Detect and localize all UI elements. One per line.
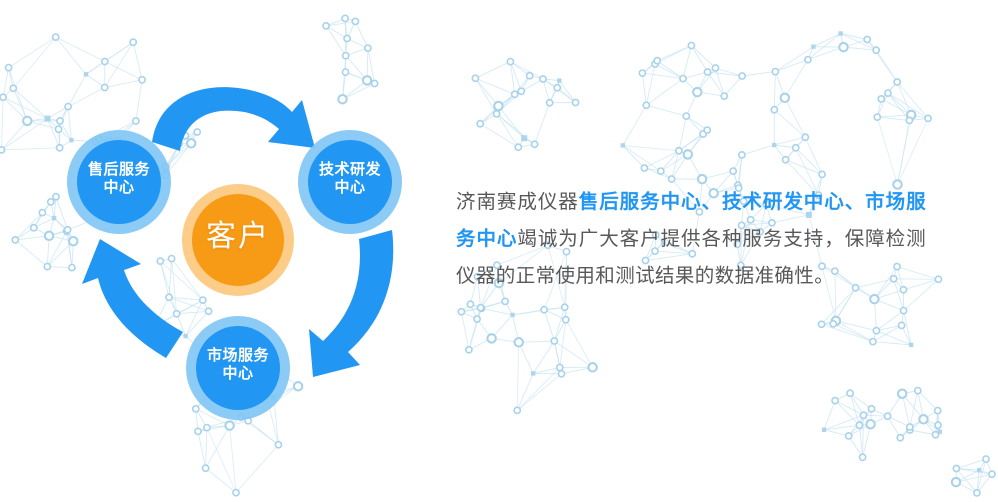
mesh-node [781,94,789,102]
mesh-node [540,76,546,82]
mesh-node [805,57,811,63]
mesh-node [868,406,874,412]
mesh-node [532,141,538,147]
mesh-node [901,308,907,314]
mesh-node [467,301,473,307]
node-market-service-center[interactable] [186,316,290,420]
service-cycle-diagram [0,0,440,502]
mesh-node [818,321,824,327]
mesh-edge [708,72,725,96]
mesh-node [989,471,995,477]
mesh-edge [679,116,686,151]
mesh-node [494,111,500,117]
mesh-node [870,339,876,345]
mesh-edge [850,393,871,409]
promo-banner: 售后服务 中心 技术研发 中心 市场服务 中心 客户 济南赛成仪器售后服务中心、… [0,0,998,502]
mesh-node [684,150,692,158]
mesh-edge [623,105,647,145]
mesh-node [494,102,502,110]
mesh-node [898,390,906,398]
mesh-node [897,435,903,441]
mesh-node [894,79,900,85]
mesh-node [688,42,694,48]
mesh-edge [833,324,873,342]
mesh-node [521,135,527,141]
mesh-edge [898,115,912,185]
mesh-edge [517,374,561,411]
mesh-node [819,171,825,177]
mesh-node [510,313,514,317]
mesh-edge [716,68,725,96]
mesh-node [919,415,927,423]
mesh-node [557,78,561,82]
arrow-right [309,230,393,377]
mesh-edge [841,34,868,40]
node-technology-rnd-center[interactable] [298,130,402,234]
mesh-edge [785,98,806,137]
mesh-node [518,88,524,94]
mesh-edge [646,79,683,106]
mesh-edge [644,151,679,168]
mesh-edge [863,415,864,457]
mesh-edge [898,118,929,184]
mesh-edge [774,72,775,110]
mesh-node [563,317,569,323]
mesh-node [739,73,745,79]
mesh-edge [897,82,911,115]
mesh-node [953,465,959,471]
mesh-node [772,143,776,147]
description-text: 济南赛成仪器 [456,191,579,213]
mesh-edge [623,145,679,150]
arrow-top [152,87,315,151]
mesh-edge [642,73,646,105]
mesh-node [983,456,989,462]
mesh-node [551,338,557,344]
description-text: 竭诚为广大客户提供各种服务支持，保障检测仪器的正常使用和测试结果的数据准确性。 [456,228,926,287]
mesh-node [572,99,578,105]
mesh-node [527,73,533,79]
mesh-node [811,45,815,49]
mesh-node [698,175,706,183]
mesh-edge [560,320,566,368]
mesh-node [856,422,862,428]
mesh-node [721,93,727,99]
mesh-node [554,85,560,91]
mesh-node [783,157,789,163]
mesh-node [906,117,912,123]
mesh-edge [774,137,805,145]
mesh-node [693,88,701,96]
mesh-edge [867,40,897,83]
mesh-edge [517,373,533,410]
mesh-node [802,134,808,140]
mesh-node [458,309,464,315]
mesh-node [557,364,563,370]
mesh-edge [796,148,822,175]
mesh-edge [956,469,992,475]
mesh-node [739,152,745,158]
mesh-node [793,145,799,151]
arrow-left [82,239,183,358]
mesh-node [935,408,941,414]
mesh-node [641,165,647,171]
mesh-node [477,121,483,127]
mesh-node [512,91,518,97]
mesh-node [907,424,913,430]
mesh-edge [519,341,555,342]
mesh-node [772,69,778,75]
mesh-node [935,422,941,428]
mesh-node [938,430,942,434]
mesh-node [683,113,689,119]
mesh-node [621,143,625,147]
mesh-edge [482,308,513,315]
mesh-node [515,144,521,150]
mesh-node [838,31,842,35]
mesh-node [864,36,870,42]
mesh-edge [646,105,686,116]
mesh-node [466,347,472,353]
mesh-node [839,43,847,51]
mesh-edge [544,310,554,341]
mesh-edge [742,72,775,76]
mesh-node [531,371,535,375]
mesh-edge [785,60,808,98]
mesh-node [873,328,879,334]
mesh-node [885,413,891,419]
mesh-node [478,305,484,311]
mesh-edge [513,307,565,315]
mesh-node [847,390,853,396]
mesh-node [860,412,866,418]
mesh-node [909,343,913,347]
mesh-edge [774,110,805,138]
mesh-node [558,371,564,377]
mesh-node [830,321,836,327]
mesh-edge [836,321,877,331]
mesh-edge [533,368,560,374]
mesh-edge [623,145,645,168]
mesh-node [873,47,879,53]
description-paragraph: 济南赛成仪器售后服务中心、技术研发中心、市场服务中心竭诚为广大客户提供各种服务支… [456,184,926,295]
mesh-node [676,148,682,154]
mesh-node [832,398,838,404]
mesh-node [730,168,736,174]
mesh-edge [683,46,691,79]
mesh-edge [517,342,519,410]
mesh-edge [566,320,593,368]
mesh-edge [910,391,918,427]
node-after-sales-service-center[interactable] [67,130,171,234]
mesh-edge [904,311,912,345]
mesh-edge [475,78,498,106]
mesh-node [870,295,878,303]
mesh-edge [533,341,554,373]
mesh-node [654,58,660,64]
mesh-node [704,127,710,133]
mesh-node [874,114,880,120]
mesh-node [860,454,866,460]
mesh-node [502,298,508,304]
mesh-node [507,59,513,65]
mesh-edge [475,78,496,114]
mesh-node [588,363,596,371]
mesh-node [977,468,981,472]
mesh-node [704,69,710,75]
mesh-node [639,70,645,76]
mesh-node [712,65,718,71]
mesh-node [472,75,478,81]
mesh-node [680,76,686,82]
mesh-node [487,334,495,342]
mesh-node [643,102,649,108]
mesh-node [915,388,921,394]
mesh-node [925,115,931,121]
mesh-node [547,100,553,106]
mesh-node [514,407,520,413]
mesh-node [866,420,874,428]
mesh-node [935,276,941,282]
mesh-node [885,90,891,96]
mesh-node [562,304,568,310]
mesh-node [952,478,960,486]
node-customer-hub[interactable] [182,184,294,296]
mesh-node [515,338,523,346]
mesh-node [669,176,675,182]
mesh-edge [808,47,844,60]
mesh-node [822,428,826,432]
mesh-node [878,96,884,102]
mesh-node [541,307,547,313]
mesh-edge [646,64,655,105]
mesh-edge [910,430,936,435]
mesh-edge [742,145,774,155]
mesh-node [899,322,905,328]
mesh-node [771,107,777,113]
mesh-node [846,433,852,439]
mesh-node [974,490,980,496]
mesh-edge [824,401,835,430]
mesh-edge [535,103,550,145]
mesh-edge [475,78,514,94]
mesh-edge [877,117,897,184]
mesh-node [658,168,664,174]
mesh-node [474,316,480,322]
mesh-edge [877,117,909,120]
mesh-edge [475,62,510,79]
mesh-edge [461,312,469,350]
mesh-edge [724,76,742,96]
